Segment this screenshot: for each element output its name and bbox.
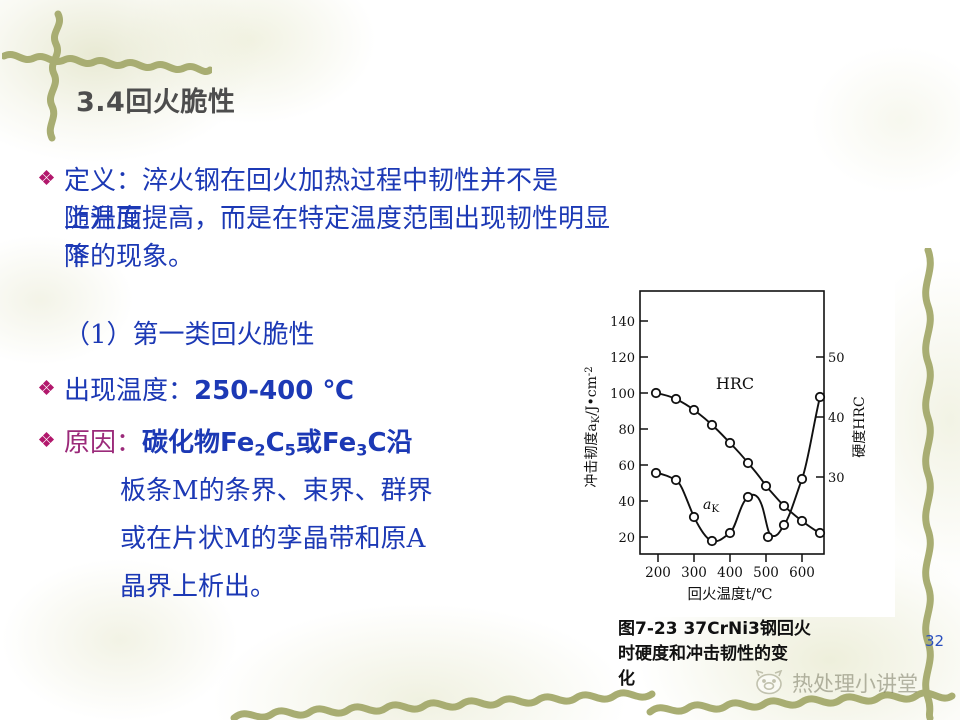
cause-line3: 或在片状M的孪晶带和原A	[120, 520, 590, 558]
watermark: 热处理小讲堂	[752, 668, 918, 698]
y2tick-40: 40	[828, 411, 845, 426]
definition-line3: 降的现象。	[64, 238, 624, 276]
diamond-bullet-icon	[40, 381, 53, 394]
y2-axis-label: 硬度HRC	[852, 396, 868, 457]
hrc-pt-300	[690, 406, 698, 414]
ytick-40: 40	[618, 495, 635, 510]
series-hrc-annotation: HRC	[716, 374, 754, 393]
slide-canvas: 3.4回火脆性 定义：淬火钢在回火加热过程中韧性并不是随温度 上升而提高，而是在…	[0, 0, 960, 720]
ytick-140: 140	[610, 315, 635, 330]
cause-formula-c: 或Fe	[296, 428, 356, 458]
ak-pt-345	[708, 537, 716, 545]
ytick-120: 120	[610, 351, 635, 366]
ak-pt-600	[798, 475, 806, 483]
hrc-pt-400	[726, 439, 734, 447]
decor-cross-squiggle	[2, 4, 212, 144]
cause-formula-a: 碳化物Fe	[142, 428, 254, 458]
hrc-pt-450	[744, 459, 752, 467]
hrc-pt-250	[672, 395, 680, 403]
diamond-bullet-icon	[40, 433, 53, 446]
hrc-pt-650	[816, 529, 824, 537]
definition-label: 定义：	[64, 166, 142, 196]
y-axis-label: 冲击韧度aK/J•cm-2	[584, 366, 602, 487]
hrc-pt-550	[780, 502, 788, 510]
cause-line4: 晶界上析出。	[120, 568, 590, 606]
xtick-400: 400	[717, 565, 743, 581]
ak-pt-505	[764, 533, 772, 541]
y2tick-50: 50	[828, 351, 845, 366]
temperature-label: 出现温度：	[64, 376, 194, 406]
ak-pt-650	[816, 393, 824, 401]
xtick-300: 300	[681, 565, 707, 581]
ak-pt-450	[744, 493, 752, 501]
figure-caption-line2: 时硬度和冲击韧性的变	[618, 642, 918, 667]
hrc-pt-345	[708, 421, 716, 429]
diamond-bullet-icon	[40, 171, 53, 184]
temperature-value: 250-400 ℃	[194, 376, 354, 406]
watermark-text: 热处理小讲堂	[792, 668, 918, 698]
cause-sub-a: 2	[254, 441, 265, 460]
cause-formula-b: C	[266, 428, 285, 458]
ak-pt-550	[780, 521, 788, 529]
ytick-100: 100	[610, 387, 635, 402]
hrc-pt-600	[798, 517, 806, 525]
ytick-60: 60	[618, 459, 635, 474]
page-number: 32	[925, 632, 944, 650]
x-axis-label: 回火温度t/℃	[688, 586, 773, 603]
figure-panel: 140 120 100 80 60 40 20 50 40 30	[572, 277, 895, 617]
cause-sub-c: 3	[356, 441, 367, 460]
xtick-500: 500	[753, 565, 779, 581]
tempering-brittleness-chart: 140 120 100 80 60 40 20 50 40 30	[572, 277, 895, 617]
subheading-first-type: （1）第一类回火脆性	[64, 316, 564, 354]
page-title: 3.4回火脆性	[76, 80, 235, 119]
y2tick-30: 30	[828, 471, 845, 486]
cause-sub-b: 5	[285, 441, 296, 460]
cause-label: 原因：	[64, 428, 142, 458]
ytick-80: 80	[618, 423, 635, 438]
figure-caption-line1: 图7-23 37CrNi3钢回火	[618, 617, 918, 642]
xtick-200: 200	[645, 565, 671, 581]
bullet-occurrence-temperature: 出现温度：250-400 ℃	[40, 372, 580, 410]
cause-line2: 板条M的条界、束界、群界	[120, 472, 590, 510]
xtick-600: 600	[789, 565, 815, 581]
hrc-pt-500	[762, 482, 770, 490]
ak-pt-300	[690, 513, 698, 521]
ak-pt-200	[652, 469, 660, 477]
ytick-20: 20	[618, 531, 635, 546]
ak-pt-250	[672, 476, 680, 484]
ak-pt-400	[726, 529, 734, 537]
cause-formula-d: C沿	[367, 428, 412, 458]
hrc-pt-200	[652, 389, 660, 397]
bullet-cause: 原因：碳化物Fe2C5或Fe3C沿	[40, 424, 600, 470]
pig-face-icon	[752, 670, 786, 696]
